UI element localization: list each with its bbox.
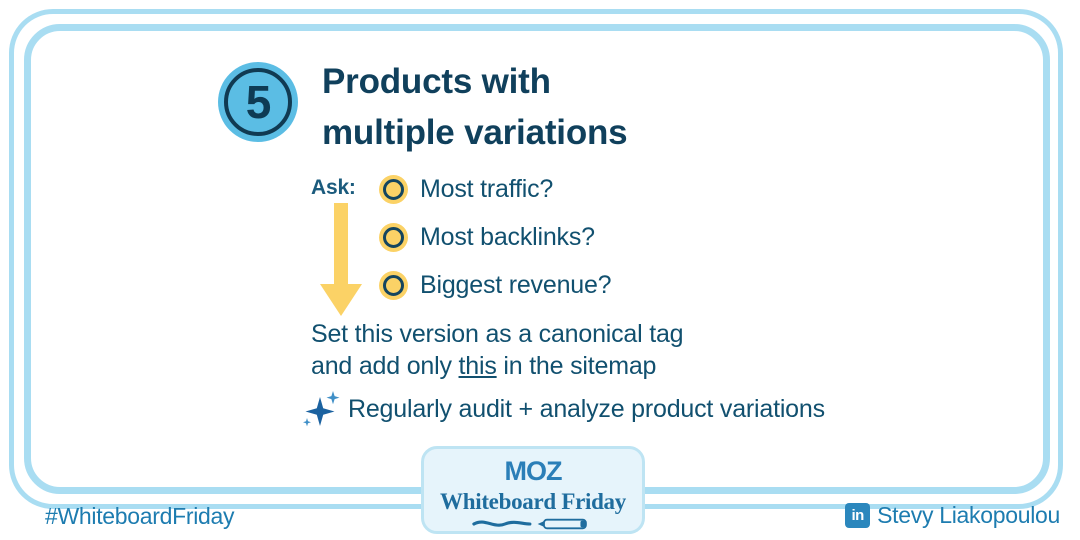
author-name: Stevy Liakopoulou [877, 502, 1060, 529]
moz-logo: MOZ [505, 458, 562, 485]
bullet-circle-icon [379, 223, 408, 252]
list-item[interactable]: Most backlinks? [379, 220, 611, 254]
body-text-block: Set this version as a canonical tag and … [311, 318, 683, 383]
list-item-label: Most traffic? [420, 175, 553, 204]
list-item[interactable]: Most traffic? [379, 172, 611, 206]
sparkle-icon [300, 390, 346, 428]
step-number-text: 5 [246, 79, 271, 125]
moz-whiteboard-friday-badge: MOZ Whiteboard Friday [421, 446, 645, 534]
list-item-label: Most backlinks? [420, 223, 595, 252]
marker-pen-icon [453, 517, 613, 531]
tip-line-label: Regularly audit + analyze product variat… [348, 395, 825, 424]
whiteboard-friday-label: Whiteboard Friday [440, 490, 626, 513]
page-title-line-1: Products with [322, 57, 627, 108]
step-number-badge: 5 [218, 62, 298, 142]
slide-heading: 5 Products with multiple variations [218, 57, 627, 159]
whiteboard-friday-slide: 5 Products with multiple variations Ask:… [0, 0, 1080, 540]
tip-line: Regularly audit + analyze product variat… [300, 390, 825, 428]
body-line-2-prefix: and add only [311, 352, 459, 380]
author-credit[interactable]: in Stevy Liakopoulou [845, 502, 1060, 529]
bullet-circle-icon [379, 175, 408, 204]
body-line-2: and add only this in the sitemap [311, 350, 683, 382]
ask-label: Ask: [311, 176, 356, 200]
down-arrow-icon [318, 203, 364, 318]
list-item[interactable]: Biggest revenue? [379, 268, 611, 302]
ask-question-list: Most traffic? Most backlinks? Biggest re… [379, 172, 611, 302]
bullet-circle-icon [379, 271, 408, 300]
body-line-2-emphasis: this [459, 352, 497, 380]
page-title: Products with multiple variations [322, 57, 627, 159]
list-item-label: Biggest revenue? [420, 271, 611, 300]
body-line-1: Set this version as a canonical tag [311, 318, 683, 350]
hashtag-label[interactable]: #WhiteboardFriday [45, 503, 234, 530]
linkedin-icon[interactable]: in [845, 503, 870, 528]
page-title-line-2: multiple variations [322, 108, 627, 159]
body-line-2-suffix: in the sitemap [497, 352, 657, 380]
